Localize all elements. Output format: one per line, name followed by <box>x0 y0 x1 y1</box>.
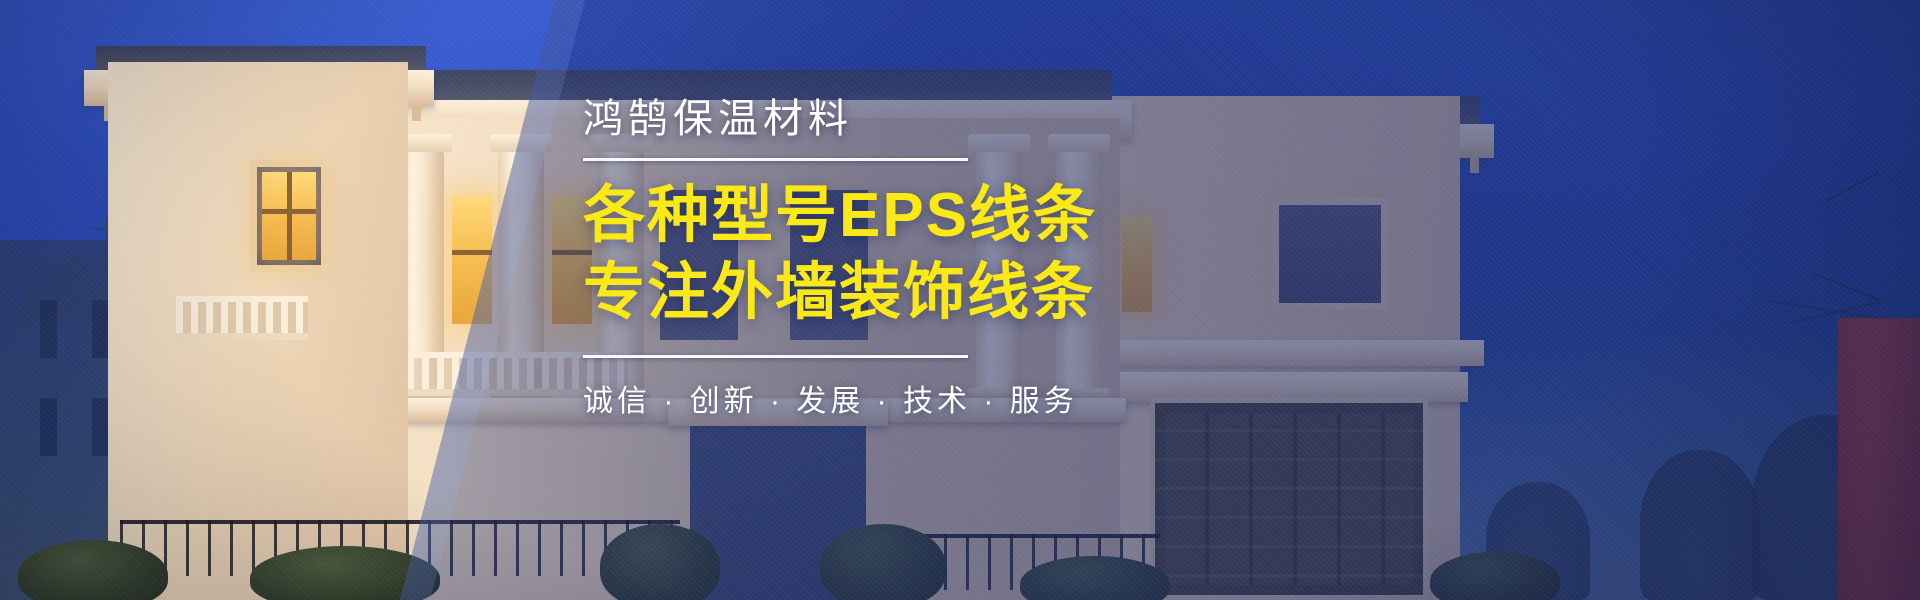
headline-line-1: 各种型号EPS线条 <box>583 179 1383 252</box>
window-lit <box>262 172 316 260</box>
divider-top <box>583 158 968 161</box>
brand-name: 鸿鹄保温材料 <box>583 96 1383 142</box>
balcony-balustrade <box>176 296 308 340</box>
divider-bottom <box>583 355 968 358</box>
headline-line-2: 专注外墙装饰线条 <box>583 256 1383 329</box>
banner-text-block: 鸿鹄保温材料 各种型号EPS线条 专注外墙装饰线条 诚信 · 创新 · 发展 ·… <box>583 96 1383 420</box>
hero-banner: 鸿鹄保温材料 各种型号EPS线条 专注外墙装饰线条 诚信 · 创新 · 发展 ·… <box>0 0 1920 600</box>
tagline: 诚信 · 创新 · 发展 · 技术 · 服务 <box>583 376 1383 420</box>
